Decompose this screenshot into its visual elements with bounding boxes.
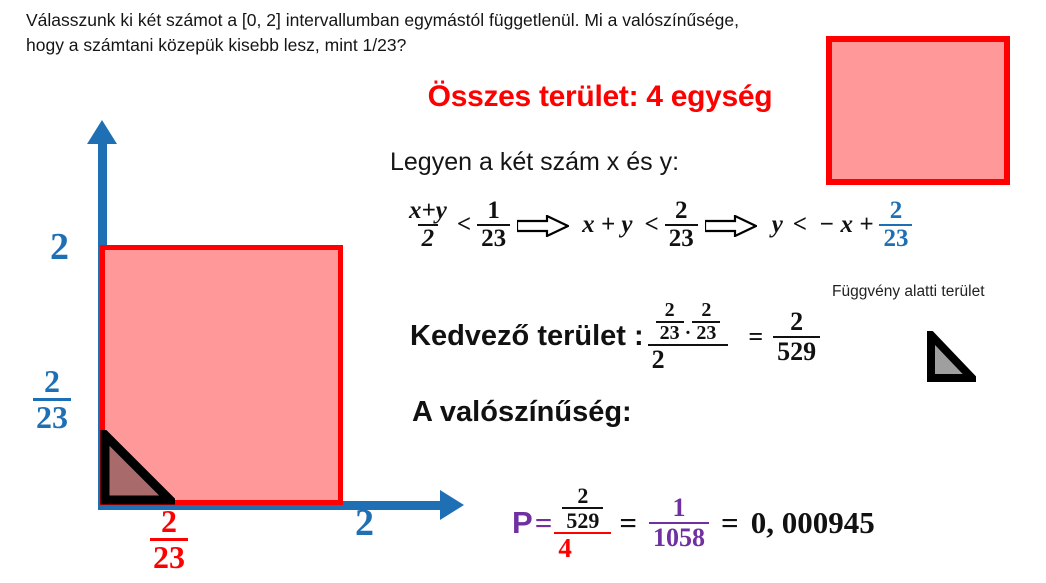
- favourable-result: = 2 529: [738, 308, 820, 365]
- probability-simplified-fraction: 1 1058: [649, 494, 709, 551]
- favourable-numerator-frac-left: 2 23: [656, 300, 684, 344]
- favourable-region-triangle: [100, 430, 175, 505]
- derivation-frac2-den: 23: [477, 224, 510, 252]
- derivation-relation-3: <: [787, 211, 813, 239]
- probability-label: A valószínűség:: [412, 396, 632, 429]
- probability-outer-denominator: 4: [554, 532, 611, 562]
- probability-inner-den: 529: [562, 507, 603, 532]
- favourable-multiply-dot: ·: [684, 323, 693, 344]
- favourable-outer-denominator: 2: [648, 344, 729, 373]
- derivation-frac3-den: 23: [665, 224, 698, 252]
- x-frac-denominator: 23: [150, 538, 188, 574]
- probability-decimal-value: 0, 000945: [751, 505, 875, 541]
- probability-equals-2: =: [607, 505, 649, 541]
- probability-outer-numerator: 2 529: [558, 483, 607, 532]
- derivation-frac1-num: x+y: [405, 198, 451, 224]
- derivation-fraction-4: 2 23: [879, 198, 912, 253]
- derivation-expression-3-y: y: [764, 211, 787, 239]
- total-area-legend-rectangle: [826, 36, 1010, 185]
- derivation-expression-2: x + y: [576, 211, 638, 239]
- derivation-expression-3-rhs: − x +: [813, 211, 879, 239]
- let-numbers-text: Legyen a két szám x és y:: [390, 148, 679, 177]
- implies-arrow-1-icon: [517, 215, 569, 235]
- derivation-relation-1: <: [451, 211, 477, 239]
- favourable-area-row: Kedvező terület : 2 23 · 2 23 2 = 2 529: [410, 300, 820, 373]
- derivation-fraction-1: x+y 2: [405, 198, 451, 253]
- total-area-title: Összes terület: 4 egység: [370, 80, 830, 114]
- fav-num-right-den: 23: [692, 321, 720, 344]
- fav-num-right-num: 2: [697, 300, 715, 321]
- y-frac-denominator: 23: [33, 398, 71, 434]
- favourable-result-den: 529: [773, 336, 820, 365]
- derivation-relation-2: <: [638, 211, 664, 239]
- fav-num-left-den: 23: [656, 321, 684, 344]
- probability-p-symbol: P: [512, 505, 533, 541]
- derivation-fraction-3: 2 23: [665, 198, 698, 253]
- probability-equals-3: =: [709, 505, 751, 541]
- derivation-frac4-num: 2: [886, 198, 907, 224]
- y-axis-tick-label-fraction: 2 23: [33, 365, 71, 436]
- x-axis-tick-label-fraction: 2 23: [150, 505, 188, 576]
- favourable-result-fraction: 2 529: [773, 308, 820, 365]
- derivation-frac2-num: 1: [483, 198, 504, 224]
- favourable-result-num: 2: [786, 308, 807, 335]
- x-axis-arrowhead-icon: [440, 490, 464, 520]
- question-line-1: Válasszunk ki két számot a [0, 2] interv…: [26, 8, 786, 33]
- inequality-derivation: x+y 2 < 1 23 x + y < 2 23 y < − x + 2 23: [405, 198, 912, 253]
- probability-inner-num: 2: [573, 484, 592, 507]
- favourable-numerator-frac-right: 2 23: [692, 300, 720, 344]
- y-frac-numerator: 2: [33, 365, 71, 398]
- derivation-frac3-num: 2: [671, 198, 692, 224]
- probability-inner-fraction: 2 529: [562, 484, 603, 532]
- derivation-frac1-den: 2: [418, 224, 439, 252]
- derivation-frac4-den: 23: [879, 224, 912, 252]
- derivation-fraction-2: 1 23: [477, 198, 510, 253]
- implies-arrow-2-icon: [705, 215, 757, 235]
- probability-simplified-num: 1: [669, 494, 690, 521]
- under-function-triangle-icon: [926, 331, 976, 383]
- favourable-area-expression: 2 23 · 2 23 2: [652, 300, 725, 373]
- question-text: Válasszunk ki két számot a [0, 2] interv…: [26, 8, 786, 59]
- favourable-equals: =: [738, 322, 773, 352]
- y-axis-tick-label-2: 2: [50, 225, 69, 269]
- fav-num-left-num: 2: [661, 300, 679, 321]
- x-axis-tick-label-2: 2: [355, 501, 374, 545]
- probability-simplified-den: 1058: [649, 522, 709, 551]
- x-frac-numerator: 2: [150, 505, 188, 538]
- favourable-numerator: 2 23 · 2 23: [652, 300, 725, 344]
- question-line-2: hogy a számtani közepük kisebb lesz, min…: [26, 33, 786, 58]
- under-function-area-note: Függvény alatti terület: [832, 283, 985, 301]
- probability-equation: P = 2 529 4 = 1 1058 = 0, 000945: [512, 483, 875, 563]
- probability-complex-fraction: 2 529 4: [558, 483, 607, 563]
- favourable-area-label: Kedvező terület :: [410, 320, 644, 353]
